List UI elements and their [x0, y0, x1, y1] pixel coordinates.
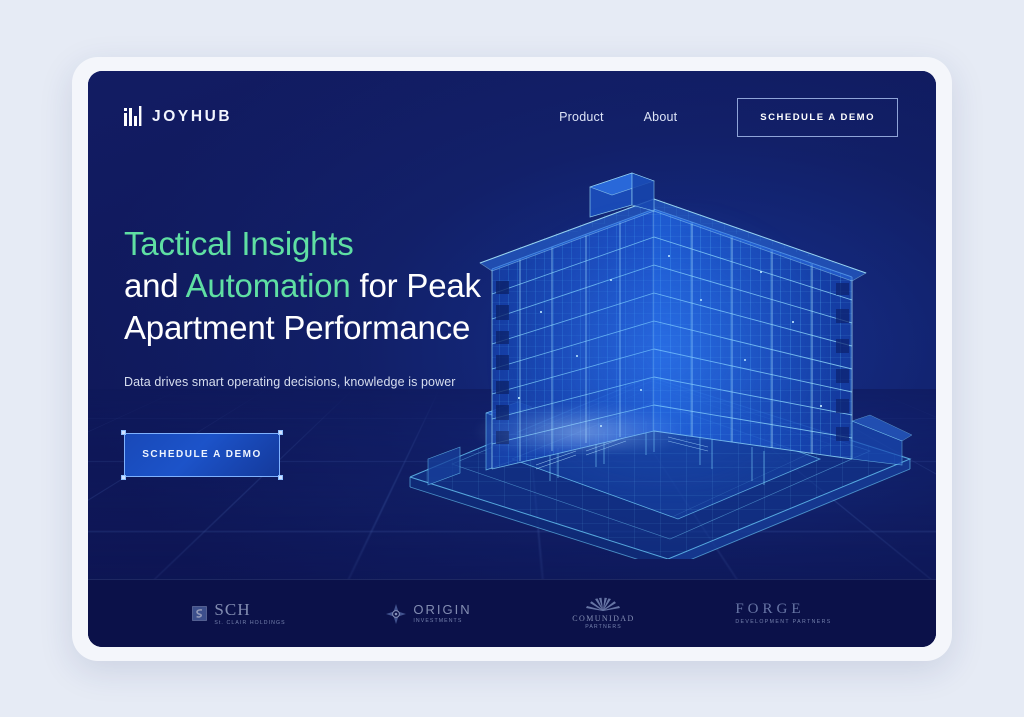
client-logo-forge-main: FORGE	[735, 602, 831, 618]
client-logo-sch-main: SCH	[214, 601, 285, 619]
selection-handle-bottom-right[interactable]	[278, 475, 283, 480]
hero-subheading: Data drives smart operating decisions, k…	[124, 375, 554, 389]
nav-item-product[interactable]: Product	[559, 110, 603, 124]
selection-handle-bottom-left[interactable]	[121, 475, 126, 480]
headline-line1: Tactical Insights	[124, 225, 354, 262]
client-logo-comunidad[interactable]: COMUNIDAD PARTNERS	[572, 597, 634, 631]
client-logo-origin[interactable]: ORIGIN INVESTMENTS	[386, 603, 471, 624]
hero-cta-wrapper: SCHEDULE A DEMO	[124, 433, 280, 477]
site-header: JOYHUB Product About SCHEDULE A DEMO	[88, 71, 936, 163]
client-logo-origin-main: ORIGIN	[413, 603, 471, 617]
nav-item-about[interactable]: About	[644, 110, 678, 124]
hero-copy: Tactical Insights and Automation for Pea…	[124, 223, 554, 477]
compass-star-icon	[386, 604, 406, 624]
client-logo-forge[interactable]: FORGE DEVELOPMENT PARTNERS	[735, 602, 831, 625]
client-logo-forge-text: FORGE DEVELOPMENT PARTNERS	[735, 602, 831, 625]
hero-screen: JOYHUB Product About SCHEDULE A DEMO Tac…	[88, 71, 936, 647]
headline-line2-start: and	[124, 267, 186, 304]
client-logo-sch-sub: St. CLAIR HOLDINGS	[214, 621, 285, 626]
headline-line3: Apartment Performance	[124, 309, 470, 346]
selection-handle-top-right[interactable]	[278, 430, 283, 435]
page-title: Tactical Insights and Automation for Pea…	[124, 223, 554, 349]
client-logo-forge-sub: DEVELOPMENT PARTNERS	[735, 620, 831, 625]
brand-name: JOYHUB	[152, 108, 232, 126]
client-logo-comunidad-main: COMUNIDAD	[572, 615, 634, 623]
headline-line2-end: for Peak	[351, 267, 481, 304]
sch-square-icon	[192, 606, 207, 621]
tower-right-face	[654, 209, 852, 459]
main-nav: Product About SCHEDULE A DEMO	[559, 98, 898, 137]
client-logo-sch[interactable]: SCH St. CLAIR HOLDINGS	[192, 601, 285, 626]
page-root: JOYHUB Product About SCHEDULE A DEMO Tac…	[0, 0, 1024, 717]
wing-fan-icon	[585, 597, 621, 612]
client-logo-origin-text: ORIGIN INVESTMENTS	[413, 603, 471, 624]
selection-handle-top-left[interactable]	[121, 430, 126, 435]
client-logo-origin-sub: INVESTMENTS	[413, 619, 471, 624]
client-logo-sch-text: SCH St. CLAIR HOLDINGS	[214, 601, 285, 626]
bar-chart-mark-icon	[124, 106, 142, 128]
brand-logo[interactable]: JOYHUB	[124, 106, 232, 128]
client-logo-comunidad-sub: PARTNERS	[572, 625, 634, 630]
client-logo-comunidad-text: COMUNIDAD PARTNERS	[572, 615, 634, 631]
headline-line2-accent: Automation	[186, 267, 351, 304]
hero-schedule-demo-button[interactable]: SCHEDULE A DEMO	[124, 433, 280, 477]
client-logo-strip: SCH St. CLAIR HOLDINGS ORIGIN INVESTMENT…	[88, 579, 936, 647]
header-schedule-demo-button[interactable]: SCHEDULE A DEMO	[737, 98, 898, 137]
